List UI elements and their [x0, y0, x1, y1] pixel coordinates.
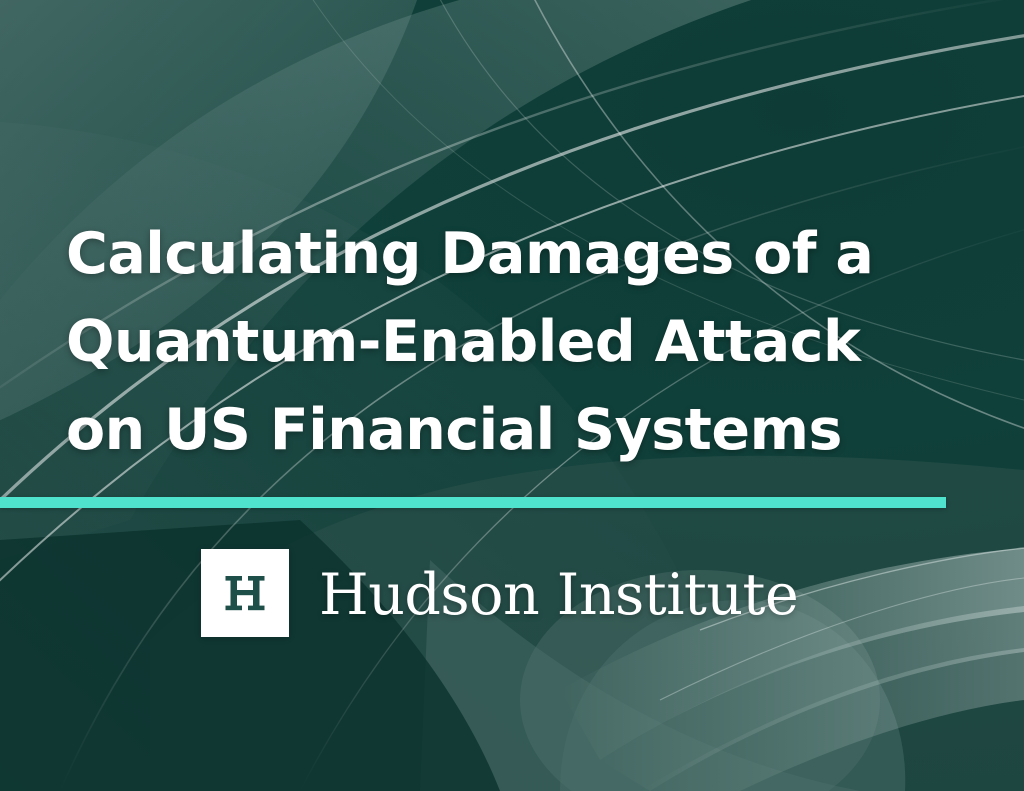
organization-wordmark: Hudson Institute — [319, 567, 798, 624]
hudson-h-monogram-icon — [201, 549, 289, 637]
title-card: Calculating Damages of a Quantum-Enabled… — [0, 0, 1024, 791]
page-title: Calculating Damages of a Quantum-Enabled… — [66, 210, 966, 474]
brand-lockup[interactable]: Hudson Institute — [201, 549, 798, 637]
accent-rule — [0, 497, 946, 508]
